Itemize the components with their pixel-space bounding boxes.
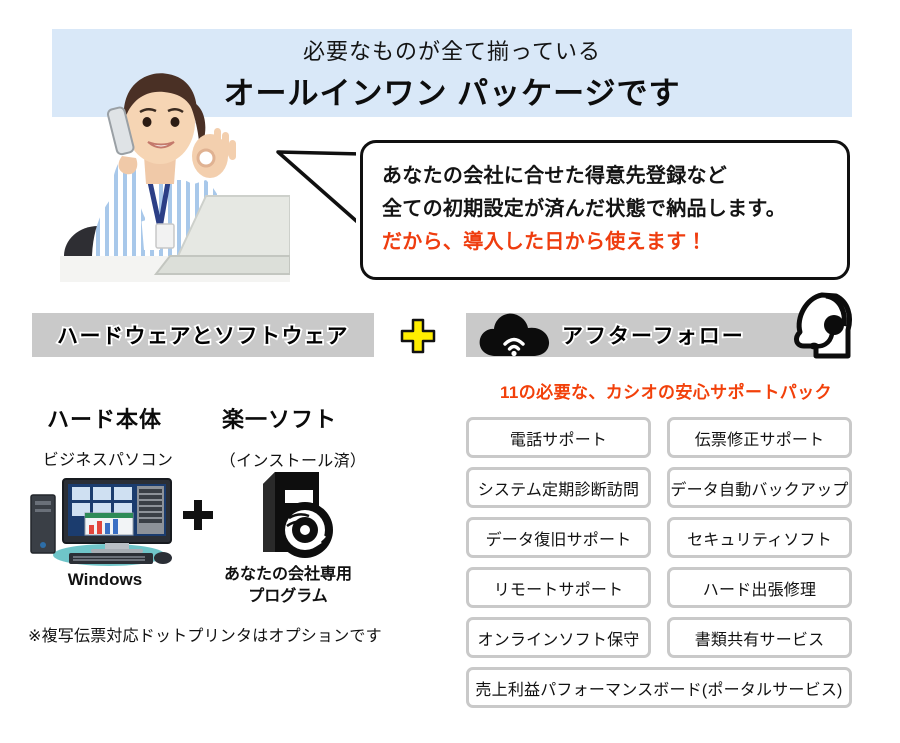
support-item[interactable]: データ自動バックアップ xyxy=(667,467,852,508)
hard-title-wrap: ハード本体 xyxy=(47,402,162,434)
support-item[interactable]: オンラインソフト保守 xyxy=(466,617,651,658)
support-item[interactable]: リモートサポート xyxy=(466,567,651,608)
program-caption-line-2: プログラム xyxy=(208,586,368,608)
plus-icon-large xyxy=(398,316,438,356)
hardware-software-bar: ハードウェアとソフトウェア xyxy=(32,313,374,357)
bubble-line-2: 全ての初期設定が済んだ状態で納品します。 xyxy=(382,193,832,226)
support-pack-title: 11の必要な、カシオの安心サポートパック xyxy=(476,378,856,403)
hard-caption: ビジネスパソコン xyxy=(28,446,188,470)
program-caption: あなたの会社専用 プログラム xyxy=(208,564,368,608)
printer-option-note: ※複写伝票対応ドットプリンタはオプションです xyxy=(28,622,382,646)
support-row: オンラインソフト保守 書類共有サービス xyxy=(466,617,852,658)
support-item[interactable]: データ復旧サポート xyxy=(466,517,651,558)
support-item[interactable]: 電話サポート xyxy=(466,417,651,458)
support-item-portal[interactable]: 売上利益パフォーマンスボード(ポータルサービス) xyxy=(466,667,852,708)
support-item[interactable]: システム定期診断訪問 xyxy=(466,467,651,508)
support-items-grid: 電話サポート 伝票修正サポート システム定期診断訪問 データ自動バックアップ デ… xyxy=(466,417,852,717)
hard-title: ハード本体 xyxy=(47,402,162,434)
headset-operator-icon xyxy=(792,292,854,360)
soft-title: 楽一ソフト xyxy=(222,402,337,434)
plus-icon-small xyxy=(180,497,216,533)
support-item[interactable]: ハード出張修理 xyxy=(667,567,852,608)
speech-bubble-text: あなたの会社に合せた得意先登録など 全ての初期設定が済んだ状態で納品します。 だ… xyxy=(382,160,832,259)
operator-photo xyxy=(60,60,290,282)
after-follow-bar-label: アフターフォロー xyxy=(562,320,745,350)
program-caption-line-1: あなたの会社専用 xyxy=(208,564,368,586)
windows-caption: Windows xyxy=(45,570,165,590)
soft-title-wrap: 楽一ソフト xyxy=(222,402,337,434)
support-item[interactable]: セキュリティソフト xyxy=(667,517,852,558)
cloud-wifi-icon xyxy=(478,310,552,360)
bubble-line-1: あなたの会社に合せた得意先登録など xyxy=(382,160,832,193)
support-item[interactable]: 伝票修正サポート xyxy=(667,417,852,458)
software-package-icon xyxy=(245,468,337,570)
bubble-line-3-highlight: だから、導入した日から使えます！ xyxy=(382,226,832,259)
banner-title: オールインワン パッケージです xyxy=(224,68,681,113)
hardware-software-bar-label: ハードウェアとソフトウェア xyxy=(57,320,349,350)
banner-subtitle: 必要なものが全て揃っている xyxy=(303,34,601,66)
desktop-pc-icon xyxy=(25,473,185,568)
support-row: システム定期診断訪問 データ自動バックアップ xyxy=(466,467,852,508)
support-row: データ復旧サポート セキュリティソフト xyxy=(466,517,852,558)
support-row: リモートサポート ハード出張修理 xyxy=(466,567,852,608)
support-row: 電話サポート 伝票修正サポート xyxy=(466,417,852,458)
speech-bubble: あなたの会社に合せた得意先登録など 全ての初期設定が済んだ状態で納品します。 だ… xyxy=(270,140,850,280)
support-item[interactable]: 書類共有サービス xyxy=(667,617,852,658)
support-row-full: 売上利益パフォーマンスボード(ポータルサービス) xyxy=(466,667,852,708)
